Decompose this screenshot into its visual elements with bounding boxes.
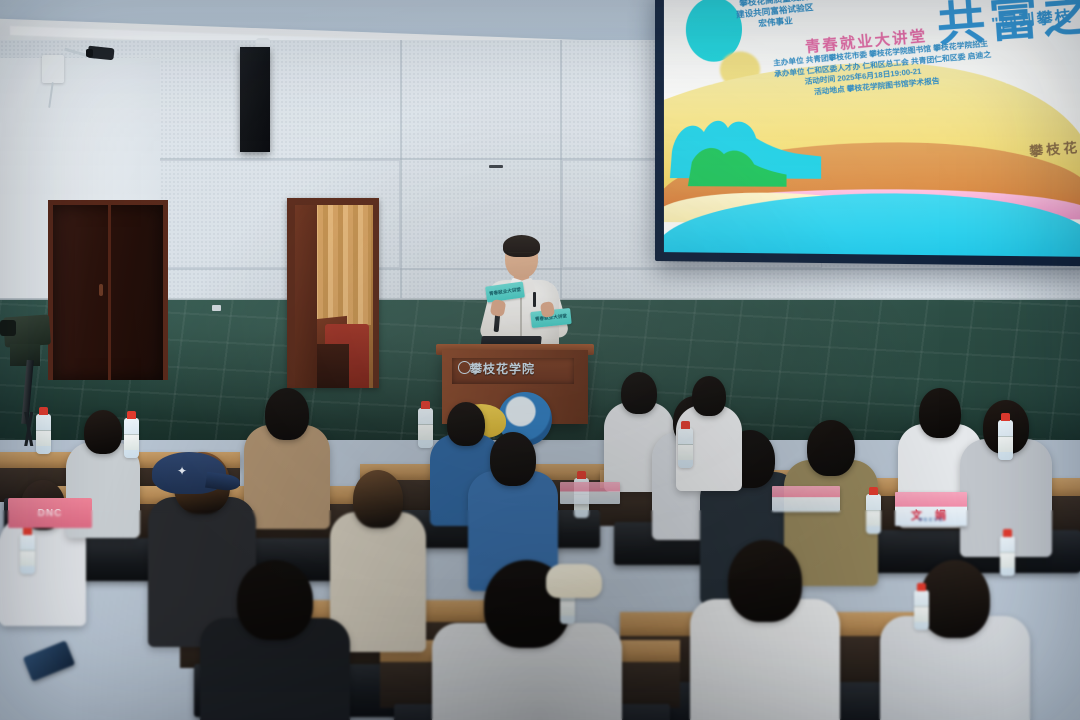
bottle-label xyxy=(36,430,51,446)
open-door-frame[interactable] xyxy=(287,198,379,388)
bottle-label xyxy=(998,436,1013,452)
audience-member-head xyxy=(265,388,309,440)
wall-speaker-icon xyxy=(240,47,270,152)
bottle-label xyxy=(20,550,35,566)
screen-city-mark: 攀枝花 xyxy=(1028,136,1080,160)
bottle-label xyxy=(914,606,929,622)
bottle-label xyxy=(866,510,881,526)
pink-case-label: DNC xyxy=(8,498,92,528)
cap-logo-icon: ✦ xyxy=(174,464,190,478)
water-bottle xyxy=(20,534,35,574)
audience-member-head xyxy=(807,420,855,476)
audience-member-head xyxy=(621,372,657,414)
smartphone-icon[interactable] xyxy=(23,640,75,681)
screen-subtitle: 攀枝花高质量发展建设共同富裕试验区宏伟事业 xyxy=(735,0,815,32)
door-split xyxy=(108,205,111,380)
projection-screen-surface: 共富之 攀枝花高质量发展建设共同富裕试验区宏伟事业 青春就业大讲堂 "回到攀枝 … xyxy=(664,0,1080,257)
audience-member-head xyxy=(919,388,961,438)
camera-lens-hood xyxy=(0,320,16,336)
wall-seam xyxy=(400,40,402,340)
door-handle-icon[interactable] xyxy=(99,284,103,296)
audience-member-head xyxy=(237,560,313,640)
projection-screen: 共富之 攀枝花高质量发展建设共同富裕试验区宏伟事业 青春就业大讲堂 "回到攀枝 … xyxy=(655,0,1080,266)
pink-equipment-case: DNC xyxy=(8,498,92,528)
podium-institution-label: 攀枝花学院 xyxy=(470,360,535,377)
wall-control-box xyxy=(42,55,64,83)
wall-outlet xyxy=(212,305,221,311)
name-placard xyxy=(560,482,620,504)
bottle-label xyxy=(418,424,433,440)
bottle-label xyxy=(560,600,575,616)
bottle-label xyxy=(678,444,693,460)
audience-member-head xyxy=(728,540,802,622)
water-bottle xyxy=(36,414,51,454)
audience-member-body xyxy=(244,425,330,529)
water-bottle xyxy=(1000,536,1015,576)
white-bag xyxy=(546,564,602,598)
interior-chair xyxy=(315,344,349,388)
name-placard: 文 娟 攀枝花学院 xyxy=(895,492,967,526)
audience-member-head xyxy=(353,470,403,528)
water-bottle xyxy=(866,494,881,534)
name-placard xyxy=(772,486,840,512)
camera-lens-icon xyxy=(86,49,93,57)
bottle-label xyxy=(124,434,139,450)
camera-body xyxy=(10,344,40,366)
open-door-leaf[interactable] xyxy=(295,205,317,388)
audience-member-head xyxy=(490,432,536,486)
audience-member-head xyxy=(84,410,122,454)
speaker-logo xyxy=(489,165,503,168)
wave-splash-graphic xyxy=(670,100,821,191)
glasses-icon xyxy=(508,252,535,259)
audience-member-head xyxy=(692,376,726,416)
placard-subtitle: 攀枝花学院 xyxy=(895,517,967,523)
water-bottle xyxy=(998,420,1013,460)
audience-member-head xyxy=(920,560,990,638)
dark-double-door[interactable] xyxy=(48,200,168,380)
pen-icon xyxy=(533,292,536,307)
water-bottle xyxy=(124,418,139,458)
audience-member-head xyxy=(447,402,485,446)
water-bottle xyxy=(418,408,433,448)
water-bottle xyxy=(914,590,929,630)
lecture-hall-photo: 共富之 攀枝花高质量发展建设共同富裕试验区宏伟事业 青春就业大讲堂 "回到攀枝 … xyxy=(0,0,1080,720)
door-interior-view xyxy=(295,205,373,388)
water-bottle xyxy=(678,428,693,468)
bottle-label xyxy=(1000,552,1015,568)
interior-curtain xyxy=(313,205,371,325)
